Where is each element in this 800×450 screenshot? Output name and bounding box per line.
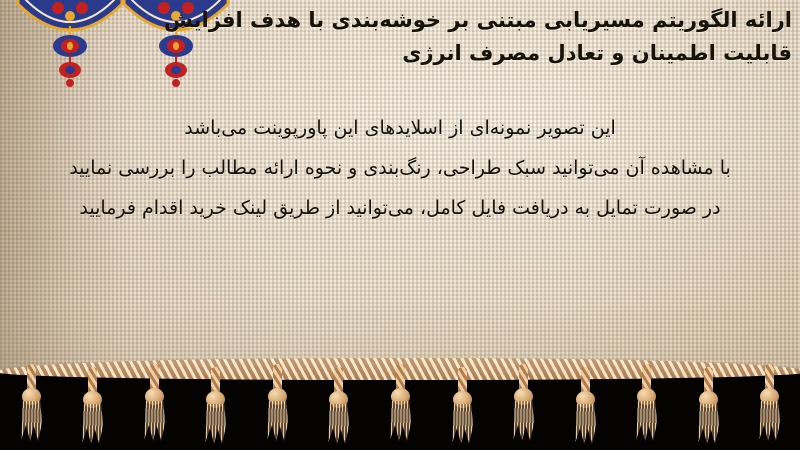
slide-body-text: این تصویر نمونه‌ای از اسلایدهای این پاور… xyxy=(0,108,800,228)
tassel xyxy=(449,367,475,445)
tassel-skirt xyxy=(758,401,781,441)
persian-medallion-ornament-icon xyxy=(14,0,126,110)
slide-title-line-2: قابلیت اطمینان و تعادل مصرف انرژی xyxy=(192,37,792,70)
tassel xyxy=(387,364,413,442)
tassel xyxy=(633,364,659,442)
tassel-skirt xyxy=(327,404,350,444)
tassel xyxy=(756,364,782,442)
tassel-skirt xyxy=(635,401,658,441)
tassel xyxy=(202,367,228,445)
tassel-skirt xyxy=(512,401,535,441)
tassel xyxy=(695,367,721,445)
slide-body-line-2: با مشاهده آن می‌توانید سبک طراحی، رنگ‌بن… xyxy=(0,148,800,188)
tassel xyxy=(141,364,167,442)
tassel xyxy=(510,364,536,442)
slide-title-line-1: ارائه الگوریتم مسیریابی مبتنی بر خوشه‌بن… xyxy=(192,4,792,37)
tassel-skirt xyxy=(81,404,104,444)
tassel-skirt xyxy=(20,401,43,441)
tassel-skirt xyxy=(574,404,597,444)
tassel-skirt xyxy=(389,401,412,441)
tassel xyxy=(325,367,351,445)
tassel-skirt xyxy=(204,404,227,444)
tassel xyxy=(264,364,290,442)
slide-canvas: ارائه الگوریتم مسیریابی مبتنی بر خوشه‌بن… xyxy=(0,0,800,450)
tassel-skirt xyxy=(266,401,289,441)
tassel-fringe-border xyxy=(0,358,800,450)
slide-title: ارائه الگوریتم مسیریابی مبتنی بر خوشه‌بن… xyxy=(192,4,792,70)
slide-body-line-1: این تصویر نمونه‌ای از اسلایدهای این پاور… xyxy=(0,108,800,148)
slide-body-line-3: در صورت تمایل به دریافت فایل کامل، می‌تو… xyxy=(0,188,800,228)
tassel-skirt xyxy=(143,401,166,441)
tassel-skirt xyxy=(451,404,474,444)
tassel-skirt xyxy=(697,404,720,444)
tassel xyxy=(572,367,598,445)
tassel xyxy=(18,364,44,442)
tassel xyxy=(79,367,105,445)
